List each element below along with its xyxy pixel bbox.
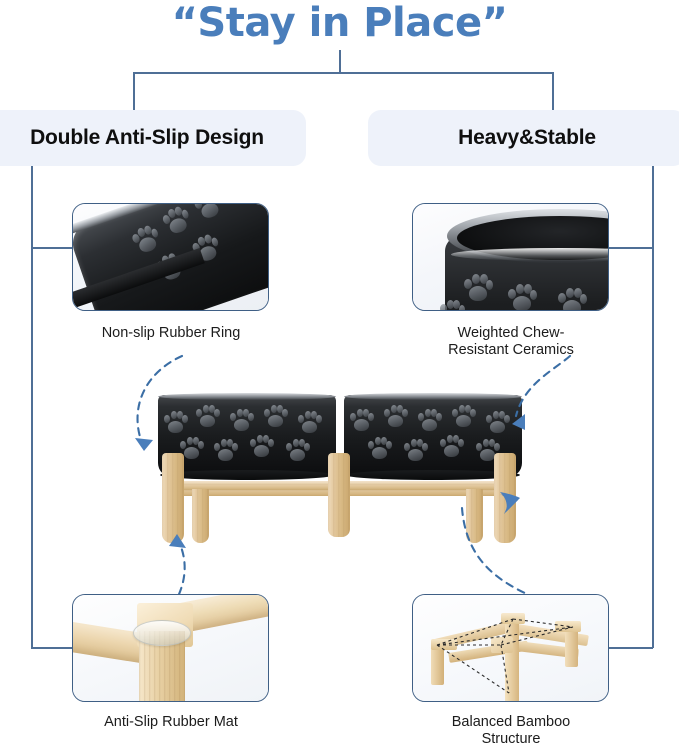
branch-label-heavy-stable[interactable]: Heavy&Stable	[368, 110, 679, 166]
product-hero-image	[150, 385, 530, 545]
ceramic-bowl-interior-image	[413, 204, 608, 310]
connector-right-top-branch	[608, 247, 653, 249]
paw-print-icon	[159, 204, 194, 239]
feature-caption-weighted-chew-resistant-ceramics: Weighted Chew- Resistant Ceramics	[402, 325, 620, 359]
feature-caption-non-slip-rubber-ring: Non-slip Rubber Ring	[62, 325, 280, 342]
bowl-rim-closeup-image	[73, 204, 268, 310]
bamboo-leg-rubber-pad-image	[73, 595, 268, 701]
paw-print-icon	[607, 284, 609, 311]
connector-title-stem	[339, 50, 341, 73]
feature-thumbnail-weighted-chew-resistant-ceramics[interactable]	[412, 203, 609, 311]
paw-print-icon	[384, 405, 408, 430]
paw-print-icon	[196, 405, 220, 430]
stand-leg-left-inner	[192, 489, 209, 543]
paw-print-icon	[439, 300, 465, 311]
caption-text: Anti-Slip Rubber Mat	[104, 714, 238, 730]
bowl-rim-gloss	[451, 248, 609, 261]
paw-print-icon	[264, 405, 288, 430]
paw-print-icon	[164, 411, 188, 436]
connector-left-spine	[31, 166, 33, 648]
branch-label-text: Heavy&Stable	[458, 126, 596, 150]
paw-print-icon	[452, 405, 476, 430]
feature-caption-anti-slip-rubber-mat: Anti-Slip Rubber Mat	[62, 714, 280, 731]
infographic-canvas: “Stay in Place” Double Anti-Slip Design …	[0, 0, 679, 742]
branch-label-double-anti-slip-design[interactable]: Double Anti-Slip Design	[0, 110, 306, 166]
paw-print-icon	[557, 288, 587, 311]
connector-right-bottom-branch	[608, 647, 653, 649]
paw-print-icon	[230, 409, 254, 434]
connector-top-crossbar	[133, 72, 554, 74]
paw-print-icon	[486, 411, 510, 436]
caption-text-line1: Weighted Chew-	[402, 325, 620, 342]
caption-text-line2: Structure	[402, 731, 620, 748]
caption-text-line2: Resistant Ceramics	[402, 342, 620, 359]
bamboo-stand	[150, 453, 530, 543]
stand-post-center	[328, 453, 350, 537]
branch-label-text: Double Anti-Slip Design	[30, 126, 264, 150]
bowl-rim-top	[344, 393, 522, 400]
paw-print-icon	[298, 411, 322, 436]
connector-right-spine	[652, 166, 654, 648]
connector-to-right-pill	[552, 72, 554, 112]
feature-thumbnail-anti-slip-rubber-mat[interactable]	[72, 594, 269, 702]
bamboo-structure-diagram-image	[413, 595, 608, 701]
paw-print-icon	[463, 274, 493, 304]
paw-print-icon	[129, 223, 164, 258]
connector-left-top-branch	[31, 247, 73, 249]
stand-leg-right-inner	[466, 489, 483, 543]
connector-left-bottom-branch	[31, 647, 73, 649]
feature-thumbnail-non-slip-rubber-ring[interactable]	[72, 203, 269, 311]
caption-text: Non-slip Rubber Ring	[102, 325, 241, 341]
page-title: “Stay in Place”	[0, 0, 679, 48]
balance-triangulation-lines	[413, 595, 609, 702]
stand-post-left-outer	[162, 453, 184, 543]
bowl-rim-top	[158, 393, 336, 400]
stand-post-right-outer	[494, 453, 516, 543]
caption-text-line1: Balanced Bamboo	[402, 714, 620, 731]
paw-print-icon	[418, 409, 442, 434]
bowl-outer-shape	[445, 212, 609, 311]
connector-to-left-pill	[133, 72, 135, 112]
feature-thumbnail-balanced-bamboo-structure[interactable]	[412, 594, 609, 702]
paw-print-icon	[191, 203, 226, 224]
paw-print-icon	[507, 284, 537, 311]
rubber-mat-pad	[133, 620, 191, 646]
paw-print-icon	[350, 409, 374, 434]
feature-caption-balanced-bamboo-structure: Balanced Bamboo Structure	[402, 714, 620, 748]
